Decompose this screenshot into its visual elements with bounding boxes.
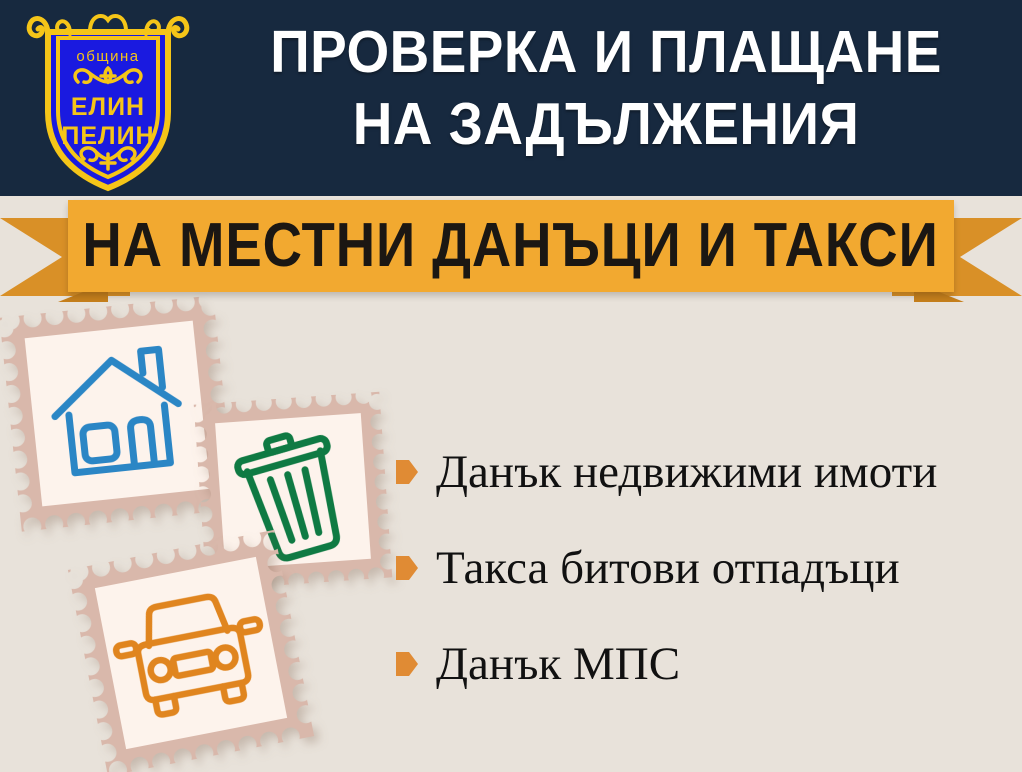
list-item: Данък недвижими имоти [396,424,1016,520]
subtitle-ribbon: НА МЕСТНИ ДАНЪЦИ И ТАКСИ [0,196,1022,304]
title-line-1: ПРОВЕРКА И ПЛАЩАНЕ [225,16,988,88]
list-item-label: Такса битови отпадъци [436,543,900,593]
list-item-label: Данък недвижими имоти [436,447,937,497]
arrow-bullet-icon [396,556,418,580]
title-line-2: НА ЗАДЪЛЖЕНИЯ [225,88,988,160]
stamp-card-car [68,530,314,772]
logo-name-line2: ПЕЛИН [61,122,154,150]
arrow-bullet-icon [396,652,418,676]
list-item: Такса битови отпадъци [396,520,1016,616]
arrow-bullet-icon [396,460,418,484]
tax-type-list: Данък недвижими имоти Такса битови отпад… [396,424,1016,712]
stamp-card-group [0,300,420,772]
logo-name-line1: ЕЛИН [71,93,145,121]
list-item: Данък МПС [396,616,1016,712]
coat-of-arms-icon: община ЕЛИН ПЕЛИН [18,4,198,194]
poster-root: община ЕЛИН ПЕЛИН [0,0,1022,772]
header-banner: община ЕЛИН ПЕЛИН [0,0,1022,196]
list-item-label: Данък МПС [436,639,680,689]
ribbon-panel: НА МЕСТНИ ДАНЪЦИ И ТАКСИ [68,200,954,292]
page-title: ПРОВЕРКА И ПЛАЩАНЕ НА ЗАДЪЛЖЕНИЯ [196,16,1016,160]
stamp-card-car-graphic [68,530,314,772]
municipality-logo: община ЕЛИН ПЕЛИН [18,4,198,194]
ribbon-text: НА МЕСТНИ ДАНЪЦИ И ТАКСИ [83,215,939,277]
logo-top-text: община [76,48,139,65]
